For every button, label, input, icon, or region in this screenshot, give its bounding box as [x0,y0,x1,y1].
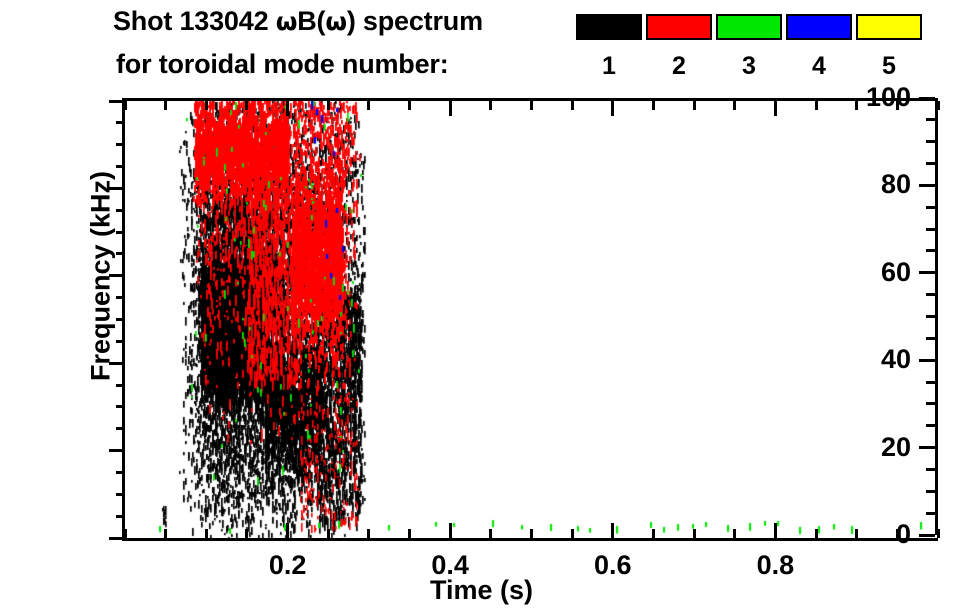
y-tick-label-40: 40 [801,344,911,375]
x-tick-minor-0.75 [733,529,736,538]
y-axis-ticks-right [935,98,955,535]
y-tick-right-minor-95 [926,118,935,121]
x-tick-top-minor-0.70 [693,101,696,110]
y-tick-label-60: 60 [801,257,911,288]
y-tick-right-minor-25 [926,424,935,427]
x-tick-minor-0.10 [205,529,208,538]
y-tick-right-minor-10 [926,490,935,493]
legend-label-2: 2 [672,54,686,79]
legend-entry-2: 2 [645,14,713,79]
x-tick-minor-0.30 [367,529,370,538]
x-tick-top-major-0.40 [449,101,452,116]
x-tick-top-minor-0.45 [489,101,492,110]
x-tick-top-major-0.20 [286,101,289,116]
x-tick-minor-0.05 [164,529,167,538]
omega-symbol-1: ω [276,7,298,36]
y-tick-right-minor-65 [926,249,935,252]
plot-title-line-2: for toroidal mode number: [116,49,449,80]
x-tick-major-0.80 [774,523,777,538]
x-tick-top-minor-0.30 [367,101,370,110]
legend: 12345 [575,14,960,92]
x-tick-minor-0.35 [408,529,411,538]
y-tick-minor-50 [116,318,125,321]
y-tick-right-minor-45 [926,337,935,340]
x-tick-minor-0.50 [530,529,533,538]
spectrum-plot-page: Shot 133042 ωB(ω) spectrum for toroidal … [0,0,963,615]
legend-swatch-5 [856,14,922,40]
y-tick-right-minor-90 [926,140,935,143]
y-axis-title: Frequency (kHz) [86,171,117,381]
legend-swatch-2 [646,14,712,40]
x-tick-minor-0.00 [124,529,127,538]
x-tick-minor-0.25 [327,529,330,538]
y-tick-right-major-20 [919,446,935,449]
y-tick-minor-10 [116,493,125,496]
y-tick-minor-85 [116,165,125,168]
x-tick-top-minor-0.55 [571,101,574,110]
y-tick-minor-45 [116,340,125,343]
y-tick-right-major-60 [919,271,935,274]
x-tick-minor-0.55 [571,529,574,538]
legend-label-4: 4 [812,54,826,79]
y-tick-major-20 [109,449,125,452]
y-tick-minor-15 [116,471,125,474]
y-tick-right-major-0 [919,534,935,537]
plot-area: 020406080100 0.20.40.60.8 Frequency (kHz… [122,98,938,541]
y-tick-minor-55 [116,296,125,299]
plot-title-line-1: Shot 133042 ωB(ω) spectrum [113,6,483,37]
x-tick-major-0.60 [611,523,614,538]
y-tick-right-minor-50 [926,315,935,318]
y-tick-right-minor-15 [926,468,935,471]
legend-label-1: 1 [602,54,616,79]
legend-entry-1: 1 [575,14,643,79]
x-axis-title: Time (s) [0,575,963,606]
x-tick-major-0.40 [449,523,452,538]
y-tick-minor-30 [116,405,125,408]
x-tick-top-minor-0.15 [245,101,248,110]
y-tick-label-20: 20 [801,432,911,463]
y-tick-minor-5 [116,515,125,518]
legend-swatch-4 [786,14,852,40]
y-tick-right-major-40 [919,359,935,362]
x-tick-minor-0.65 [652,529,655,538]
x-tick-top-minor-0.35 [408,101,411,110]
y-tick-minor-70 [116,231,125,234]
y-tick-label-100: 100 [801,82,911,113]
y-tick-right-minor-75 [926,206,935,209]
y-tick-minor-75 [116,209,125,212]
legend-label-3: 3 [742,54,756,79]
plot-title-mid: B( [297,6,325,36]
y-tick-right-minor-5 [926,512,935,515]
x-tick-top-major-0.80 [774,101,777,116]
x-tick-top-minor-0.65 [652,101,655,110]
x-tick-major-0.20 [286,523,289,538]
y-tick-right-major-80 [919,184,935,187]
legend-entry-5: 5 [855,14,923,79]
y-tick-right-minor-70 [926,228,935,231]
y-tick-minor-25 [116,427,125,430]
y-tick-minor-65 [116,252,125,255]
x-tick-minor-0.45 [489,529,492,538]
y-tick-label-0: 0 [801,519,911,550]
plot-title-suffix: ) spectrum [347,6,483,36]
y-tick-minor-35 [116,384,125,387]
x-tick-top-minor-0.10 [205,101,208,110]
legend-label-5: 5 [882,54,896,79]
y-tick-label-80: 80 [801,169,911,200]
x-tick-minor-0.70 [693,529,696,538]
y-tick-minor-90 [116,143,125,146]
legend-swatch-3 [716,14,782,40]
x-tick-top-minor-0.75 [733,101,736,110]
legend-entry-3: 3 [715,14,783,79]
y-tick-right-minor-55 [926,293,935,296]
x-tick-top-minor-0.50 [530,101,533,110]
x-tick-top-major-0.60 [611,101,614,116]
x-tick-minor-0.15 [245,529,248,538]
y-tick-right-minor-35 [926,381,935,384]
y-tick-right-minor-85 [926,162,935,165]
y-tick-right-minor-30 [926,402,935,405]
omega-symbol-2: ω [325,7,347,36]
plot-title-prefix: Shot 133042 [113,6,276,36]
x-tick-top-minor-0.25 [327,101,330,110]
y-tick-minor-95 [116,121,125,124]
spectrogram-canvas [125,101,938,538]
x-tick-top-minor-0.05 [164,101,167,110]
legend-swatch-1 [576,14,642,40]
y-tick-right-major-100 [919,97,935,100]
legend-entry-4: 4 [785,14,853,79]
x-tick-top-minor-0.00 [124,101,127,110]
